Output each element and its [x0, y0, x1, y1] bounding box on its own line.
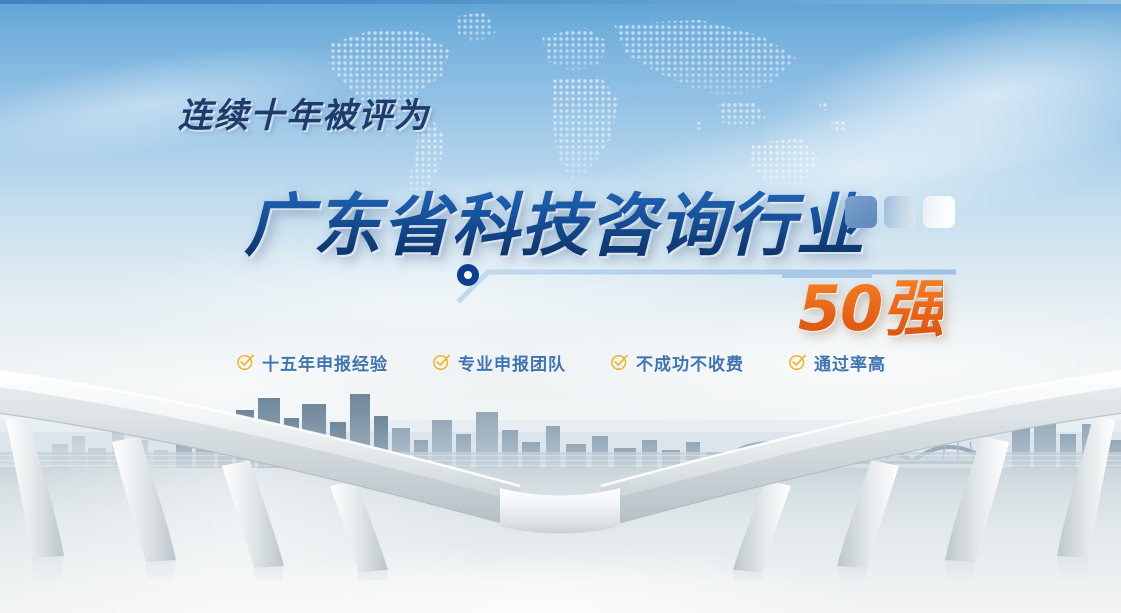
- top-accent-strip: [0, 0, 1121, 4]
- feature-list: 十五年申报经验 专业申报团队 不成功不收费 通过率高: [236, 350, 886, 375]
- banner-subtitle: 连续十年被评为: [178, 88, 430, 137]
- feature-item: 通过率高: [788, 350, 886, 375]
- feature-label: 专业申报团队: [458, 350, 566, 375]
- feature-item: 十五年申报经验: [236, 350, 388, 375]
- feature-label: 不成功不收费: [636, 350, 744, 375]
- feature-label: 十五年申报经验: [262, 350, 388, 375]
- decorative-squares: [845, 196, 955, 228]
- feature-item: 专业申报团队: [432, 350, 566, 375]
- square-gradient-blue-icon: [884, 196, 916, 228]
- feature-label: 通过率高: [814, 350, 886, 375]
- check-circle-icon: [236, 353, 255, 372]
- square-solid-blue-icon: [845, 196, 877, 228]
- check-circle-icon: [610, 353, 629, 372]
- rank-badge-text: 50强: [798, 258, 943, 348]
- feature-item: 不成功不收费: [610, 350, 744, 375]
- check-circle-icon: [432, 353, 451, 372]
- check-circle-icon: [788, 353, 807, 372]
- promo-banner: 连续十年被评为 广东省科技咨询行业 50强: [0, 0, 1121, 613]
- square-white-icon: [923, 196, 955, 228]
